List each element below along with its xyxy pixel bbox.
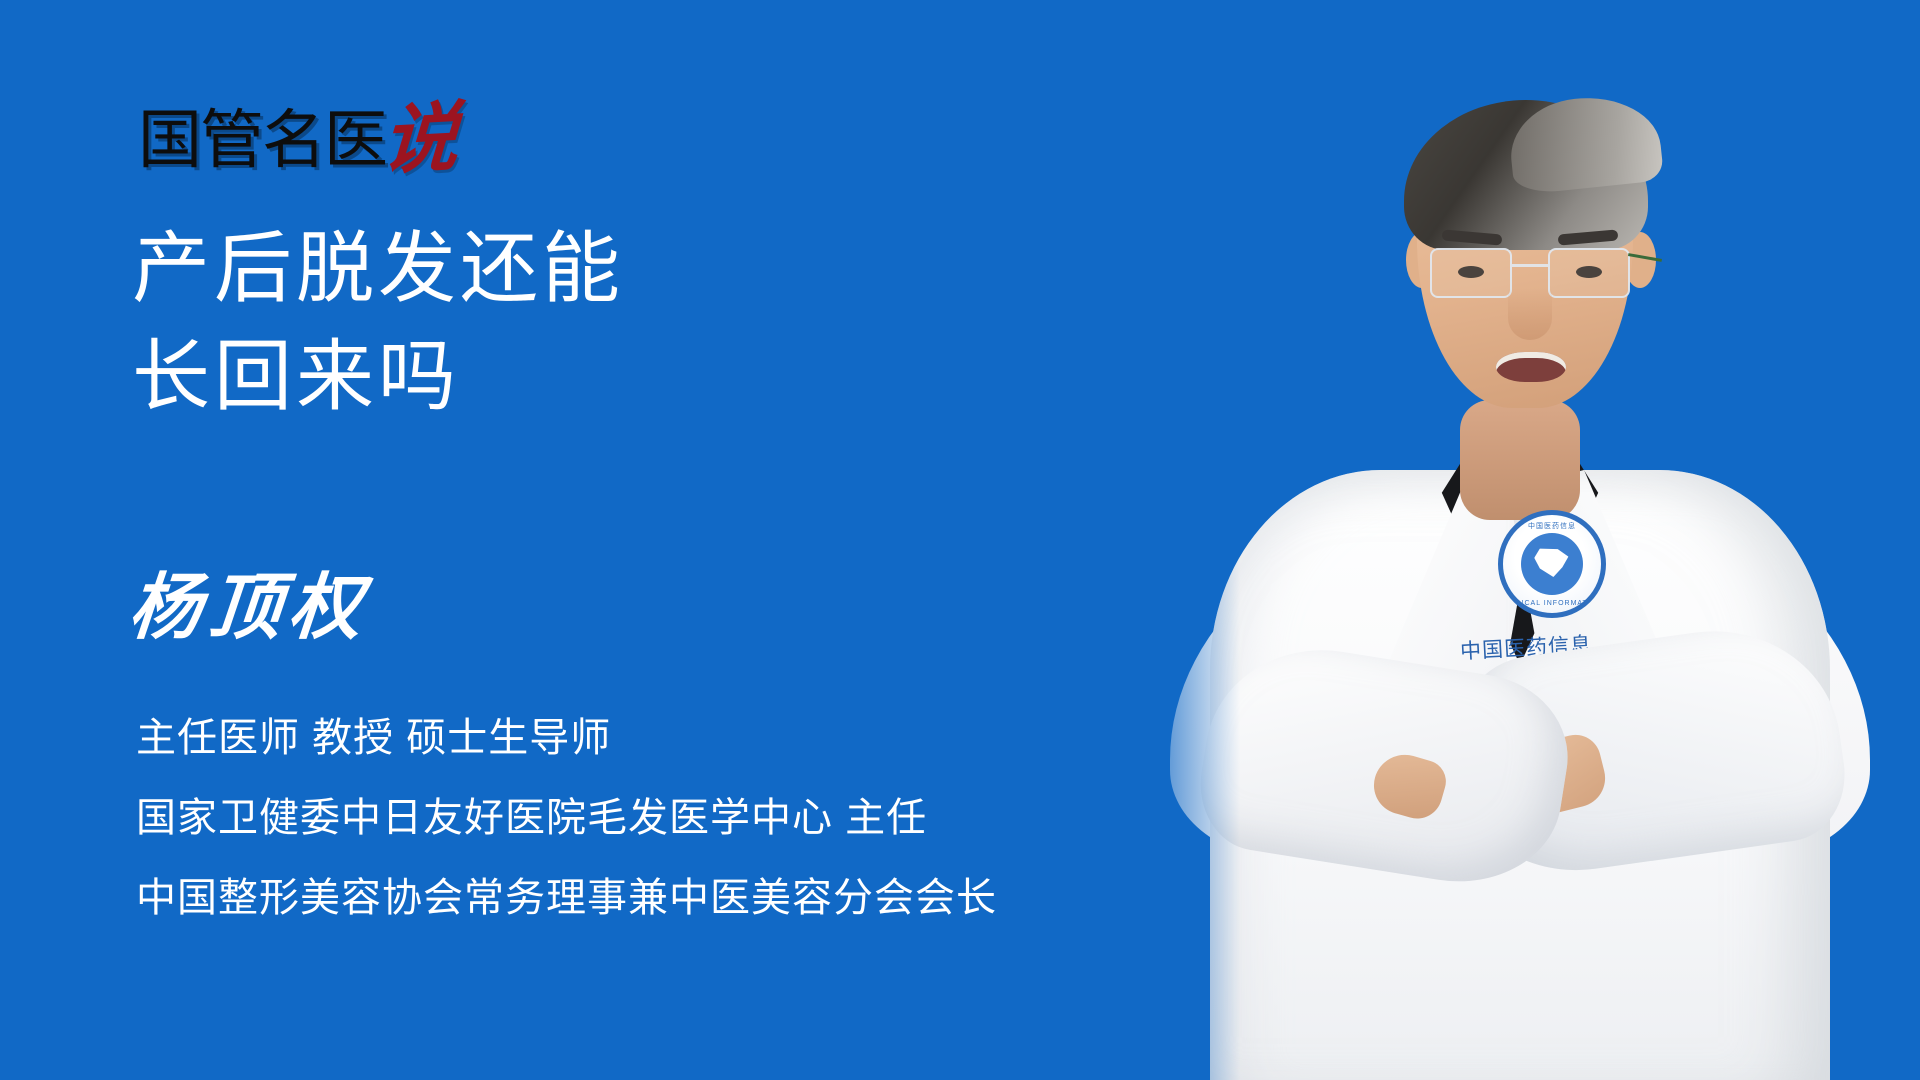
badge-arc-top-text: 中国医药信息	[1503, 521, 1601, 531]
poster-canvas: 国管名医 说 产后脱发还能 长回来吗 杨顶权 主任医师 教授 硕士生导师 国家卫…	[0, 0, 1920, 1080]
neck	[1460, 400, 1580, 520]
doctor-credentials: 主任医师 教授 硕士生导师 国家卫健委中日友好医院毛发医学中心 主任 中国整形美…	[136, 718, 997, 918]
doctor-portrait: 中国医药信息 MEDICAL INFORMATION 中国医药信息	[1130, 0, 1920, 1080]
brand-logo: 国管名医 说	[138, 88, 456, 172]
doctor-name: 杨顶权	[126, 572, 372, 644]
brand-logo-main-text: 国管名医	[138, 108, 386, 172]
badge-arc-bottom-text: MEDICAL INFORMATION	[1503, 600, 1601, 607]
credential-line-2: 国家卫健委中日友好医院毛发医学中心 主任	[136, 798, 997, 838]
page-title: 产后脱发还能 长回来吗	[132, 215, 624, 430]
credential-line-1: 主任医师 教授 硕士生导师	[136, 718, 997, 758]
nose	[1508, 288, 1552, 340]
page-title-line-2: 长回来吗	[132, 323, 624, 431]
mouth	[1496, 352, 1566, 382]
page-title-line-1: 产后脱发还能	[132, 215, 624, 323]
brand-logo-accent-text: 说	[380, 102, 460, 178]
eyeglasses-lens-right	[1548, 248, 1630, 298]
eyeglasses-lens-left	[1430, 248, 1512, 298]
credential-line-3: 中国整形美容协会常务理事兼中医美容分会会长	[136, 878, 997, 918]
eyeglasses-bridge	[1512, 264, 1548, 267]
hospital-badge-icon: 中国医药信息 MEDICAL INFORMATION	[1498, 510, 1606, 618]
